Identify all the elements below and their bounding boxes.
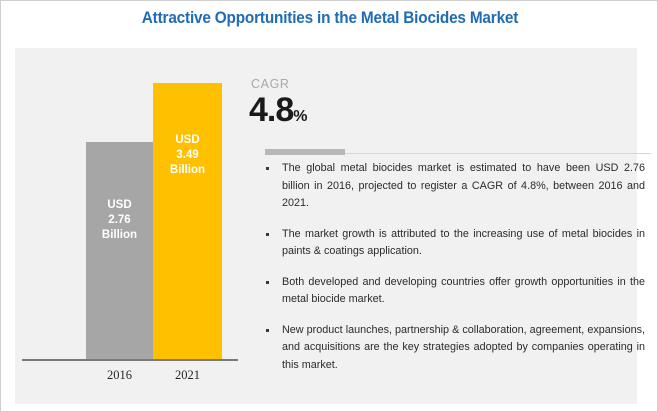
list-item: New product launches, partnership & coll… xyxy=(261,322,645,375)
page-title: Attractive Opportunities in the Metal Bi… xyxy=(24,9,636,28)
bar-label-2021-line3: Billion xyxy=(153,163,222,178)
bar-chart: USD 2.76 Billion USD 3.49 Billion 2016 2… xyxy=(15,48,245,404)
cagr-number: 4.8 xyxy=(249,91,293,129)
infographic-screen: Attractive Opportunities in the Metal Bi… xyxy=(0,0,658,412)
bar-label-2021-line1: USD xyxy=(153,133,222,148)
cagr-label: CAGR xyxy=(251,77,290,91)
bar-label-2016-line3: Billion xyxy=(86,228,153,243)
bar-2016[interactable]: USD 2.76 Billion xyxy=(86,142,153,359)
bar-label-2016: USD 2.76 Billion xyxy=(86,198,153,243)
x-tick-2016: 2016 xyxy=(86,368,153,383)
bar-2021[interactable]: USD 3.49 Billion xyxy=(153,83,222,359)
list-item: The global metal biocides market is esti… xyxy=(261,160,645,213)
x-axis-line xyxy=(22,359,238,361)
bar-label-2021-line2: 3.49 xyxy=(153,148,222,163)
bar-label-2016-line2: 2.76 xyxy=(86,213,153,228)
bar-label-2021: USD 3.49 Billion xyxy=(153,133,222,178)
list-item: Both developed and developing countries … xyxy=(261,274,645,309)
bullet-list: The global metal biocides market is esti… xyxy=(261,160,645,387)
cagr-value: 4.8% xyxy=(249,91,308,130)
content-panel: USD 2.76 Billion USD 3.49 Billion 2016 2… xyxy=(15,48,637,404)
divider-accent xyxy=(265,149,345,155)
list-item: The market growth is attributed to the i… xyxy=(261,226,645,261)
x-tick-2021: 2021 xyxy=(153,368,222,383)
cagr-percent-sign: % xyxy=(293,108,307,125)
details-section: CAGR 4.8% The global metal biocides mark… xyxy=(251,48,637,404)
bar-label-2016-line1: USD xyxy=(86,198,153,213)
